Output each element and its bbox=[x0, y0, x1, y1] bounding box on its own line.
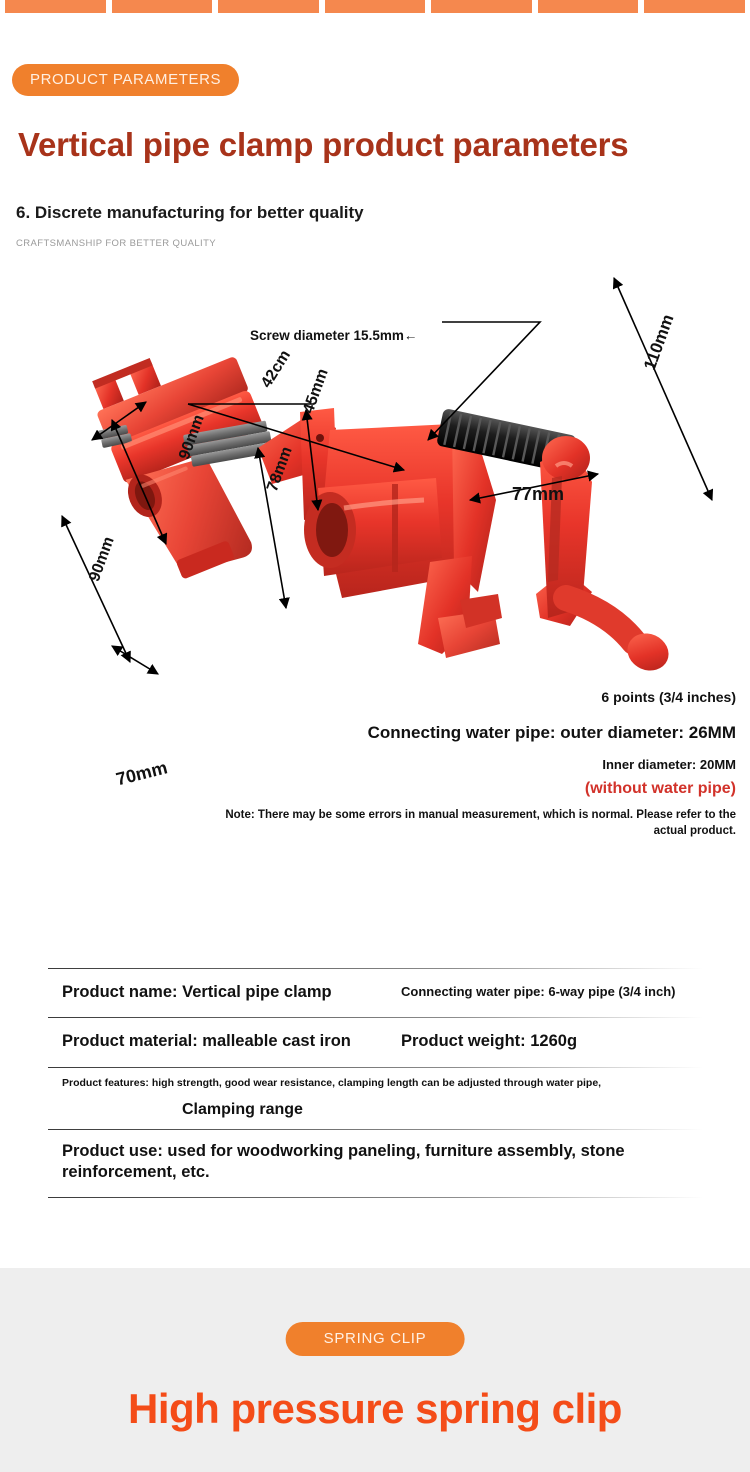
table-cell-product-name: Product name: Vertical pipe clamp bbox=[48, 968, 393, 1017]
spec-points: 6 points (3/4 inches) bbox=[601, 689, 736, 705]
section-heading: 6. Discrete manufacturing for better qua… bbox=[16, 203, 364, 223]
table-cell-material: Product material: malleable cast iron bbox=[48, 1017, 393, 1066]
clamp-illustration-svg bbox=[0, 262, 750, 682]
topbar-segment bbox=[431, 0, 532, 13]
table-row-use: Product use: used for woodworking paneli… bbox=[48, 1129, 703, 1198]
page-title: Vertical pipe clamp product parameters bbox=[18, 126, 628, 164]
topbar-segment bbox=[112, 0, 213, 13]
dim-70mm: 70mm bbox=[114, 757, 170, 790]
row-divider bbox=[48, 1197, 703, 1198]
table-row: Product material: malleable cast iron Pr… bbox=[48, 1017, 703, 1066]
table-cell-weight: Product weight: 1260g bbox=[393, 1017, 703, 1066]
topbar-segment bbox=[644, 0, 745, 13]
parameter-table: Product name: Vertical pipe clamp Connec… bbox=[48, 968, 703, 1197]
spring-clip-badge: SPRING CLIP bbox=[286, 1322, 465, 1356]
spec-outer-diameter: Connecting water pipe: outer diameter: 2… bbox=[368, 723, 736, 743]
topbar-segment bbox=[5, 0, 106, 13]
table-cell-product-use: Product use: used for woodworking paneli… bbox=[48, 1129, 703, 1198]
spring-clip-section bbox=[0, 1268, 750, 1472]
clamp-handle bbox=[536, 436, 675, 677]
table-cell-clamping-range: Clamping range bbox=[182, 1101, 601, 1119]
callout-screw-diameter: Screw diameter 15.5mm← bbox=[250, 328, 417, 343]
measurement-note: Note: There may be some errors in manual… bbox=[196, 808, 736, 839]
top-segmented-bar bbox=[0, 0, 750, 13]
spec-inner-diameter: Inner diameter: 20MM bbox=[602, 757, 736, 772]
spec-without-pipe: (without water pipe) bbox=[585, 780, 736, 798]
spring-clip-title: High pressure spring clip bbox=[128, 1385, 622, 1433]
table-cell-features: Product features: high strength, good we… bbox=[62, 1077, 601, 1091]
product-parameters-badge: PRODUCT PARAMETERS bbox=[12, 64, 239, 96]
topbar-segment bbox=[538, 0, 639, 13]
row-divider bbox=[48, 968, 703, 969]
row-divider bbox=[48, 1017, 703, 1018]
topbar-segment bbox=[218, 0, 319, 13]
product-diagram: Screw diameter 15.5mm← 42cm 45mm 78mm 77… bbox=[0, 262, 750, 682]
table-row: Product name: Vertical pipe clamp Connec… bbox=[48, 968, 703, 1017]
dim-77mm: 77mm bbox=[512, 484, 564, 505]
table-row-features: Product features: high strength, good we… bbox=[48, 1067, 703, 1129]
right-clamp-graphic bbox=[258, 408, 675, 677]
table-cell-pipe-type: Connecting water pipe: 6-way pipe (3/4 i… bbox=[393, 970, 703, 1015]
section-caption: CRAFTSMANSHIP FOR BETTER QUALITY bbox=[16, 238, 216, 249]
product-parameters-page: PRODUCT PARAMETERS Vertical pipe clamp p… bbox=[0, 0, 750, 1472]
topbar-segment bbox=[325, 0, 426, 13]
